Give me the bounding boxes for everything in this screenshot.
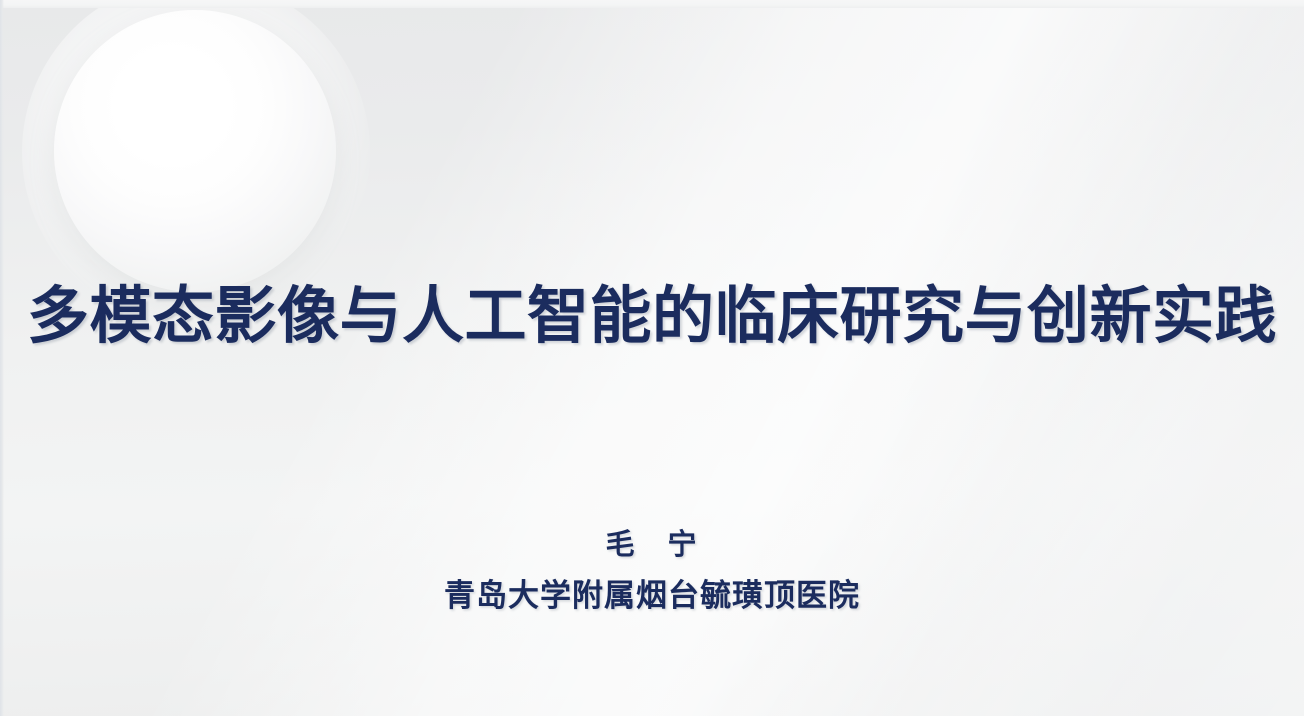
page-title: 多模态影像与人工智能的临床研究与创新实践: [0, 278, 1304, 356]
presenter-block: 毛 宁 青岛大学附属烟台毓璜顶医院: [0, 524, 1304, 618]
presenter-name: 毛 宁: [0, 524, 1304, 566]
slide-content: 多模态影像与人工智能的临床研究与创新实践 毛 宁 青岛大学附属烟台毓璜顶医院: [0, 0, 1304, 716]
presentation-slide: 多模态影像与人工智能的临床研究与创新实践 毛 宁 青岛大学附属烟台毓璜顶医院: [0, 0, 1304, 716]
presenter-affiliation: 青岛大学附属烟台毓璜顶医院: [0, 574, 1304, 618]
